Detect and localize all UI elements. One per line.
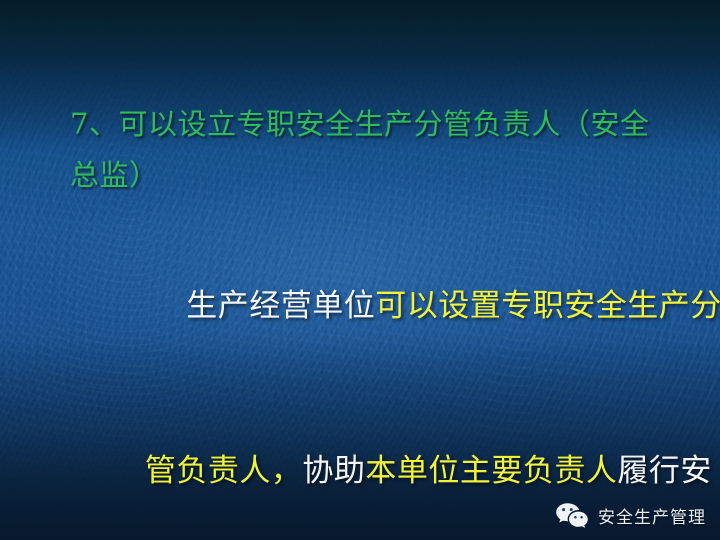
watermark: 安全生产管理 (555, 502, 706, 528)
presentation-slide: 7、可以设立专职安全生产分管负责人（安全总监） 生产经营单位可以设置专职安全生产… (0, 0, 720, 540)
body-line-1: 生产经营单位可以设置专职安全生产分 (62, 224, 682, 389)
body-segment: 协助 (302, 453, 365, 489)
slide-heading: 7、可以设立专职安全生产分管负责人（安全总监） (70, 99, 670, 201)
slide-body-text: 生产经营单位可以设置专职安全生产分 管负责人，协助本单位主要负责人履行安 全生产… (62, 224, 682, 540)
watermark-label: 安全生产管理 (598, 503, 706, 528)
body-segment: 生产经营单位 (145, 288, 375, 324)
body-segment: 管负责人， (145, 453, 303, 489)
slide-content: 7、可以设立专职安全生产分管负责人（安全总监） 生产经营单位可以设置专职安全生产… (0, 0, 720, 540)
body-segment: 可以设置专职安全生产分 (375, 288, 720, 324)
wechat-icon (555, 502, 589, 528)
body-segment: 履行安 (617, 453, 712, 489)
body-segment: 本单位主要负责人 (365, 453, 617, 489)
